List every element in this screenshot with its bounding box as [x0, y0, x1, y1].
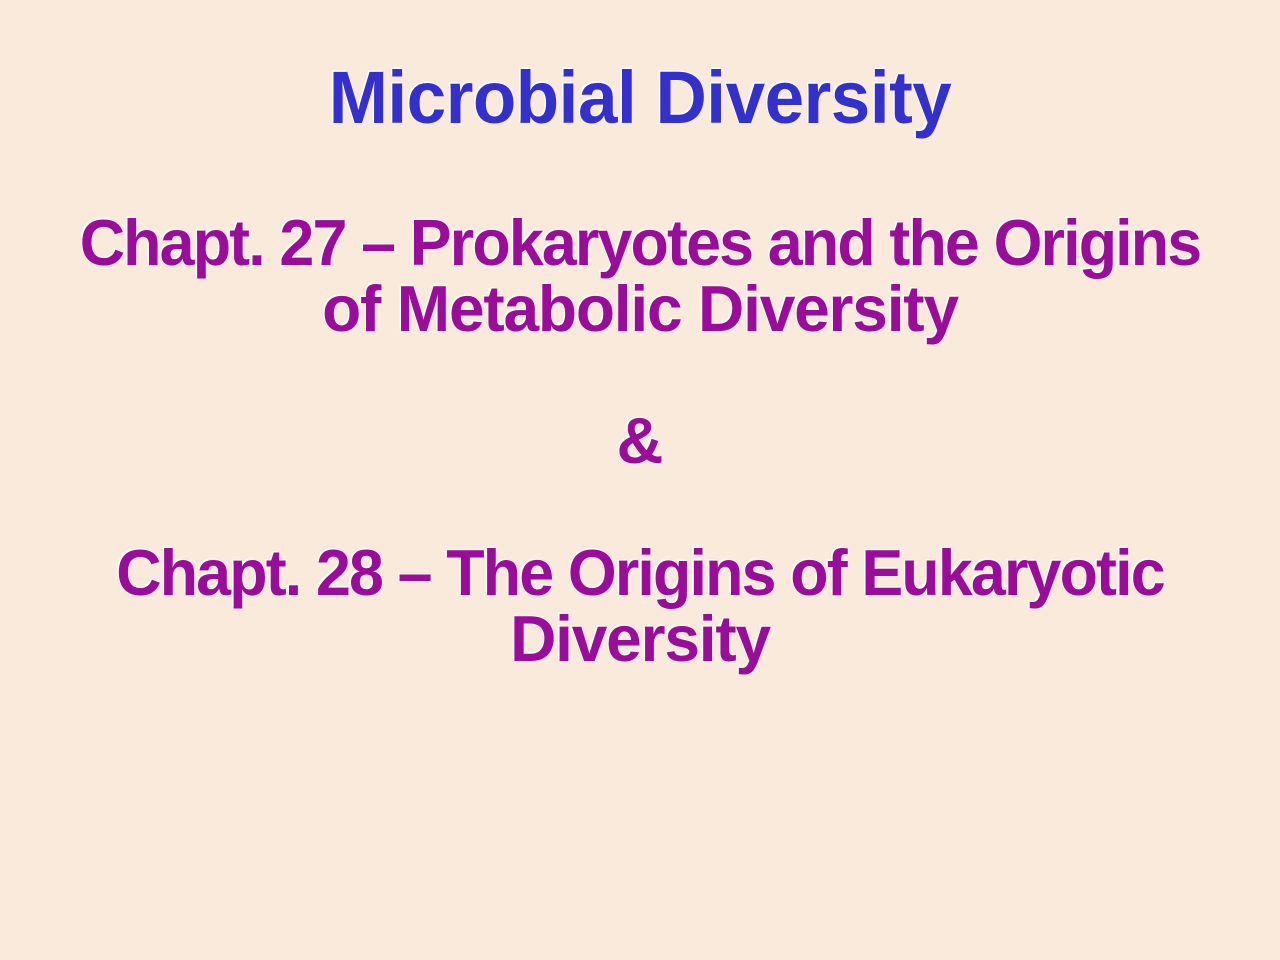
slide-body-block: Chapt. 27 – Prokaryotes and the Origins … [0, 210, 1280, 672]
chapter-27-line-1: Chapt. 27 – Prokaryotes and the Origins [22, 210, 1257, 276]
body-spacer-1 [0, 342, 1280, 408]
presentation-slide: Microbial Diversity Chapt. 27 – Prokaryo… [0, 0, 1280, 960]
body-spacer-2 [0, 474, 1280, 540]
slide-title-block: Microbial Diversity [0, 60, 1280, 137]
chapter-28-line-1: Chapt. 28 – The Origins of Eukaryotic [22, 540, 1257, 606]
page-title: Microbial Diversity [26, 60, 1255, 137]
chapter-27-line-2: of Metabolic Diversity [10, 276, 1271, 342]
ampersand-separator: & [0, 408, 1280, 474]
chapter-28-line-2: Diversity [10, 606, 1271, 672]
